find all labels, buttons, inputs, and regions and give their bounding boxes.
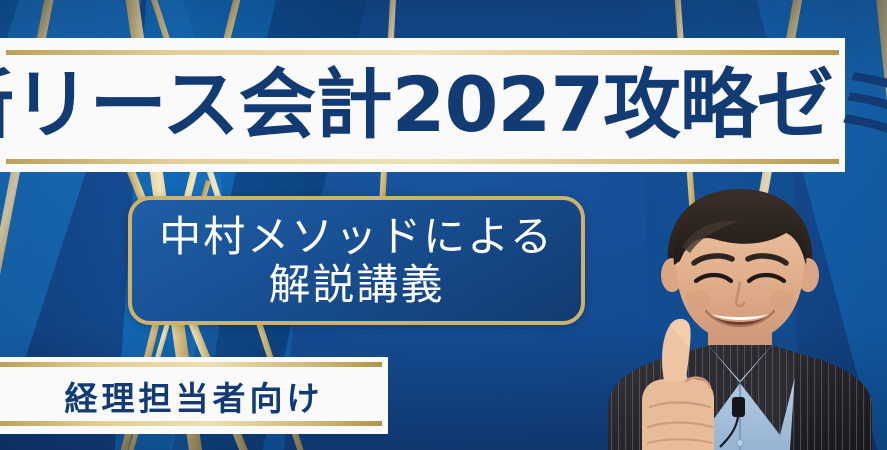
subtitle-line-2: 解説講義 <box>268 261 444 308</box>
title-banner: 新リース会計2027攻略ゼミ <box>0 38 845 172</box>
subtitle-box: 中村メソッドによる 解説講義 <box>128 196 585 325</box>
video-thumbnail: 新リース会計2027攻略ゼミ 中村メソッドによる 解説講義 経理担当者向け <box>0 0 887 450</box>
audience-badge-label: 経理担当者向け <box>65 372 324 420</box>
presenter-photo <box>590 175 887 450</box>
subtitle-line-1: 中村メソッドによる <box>159 213 554 260</box>
page-title: 新リース会計2027攻略ゼミ <box>0 67 887 143</box>
audience-badge: 経理担当者向け <box>0 357 388 434</box>
